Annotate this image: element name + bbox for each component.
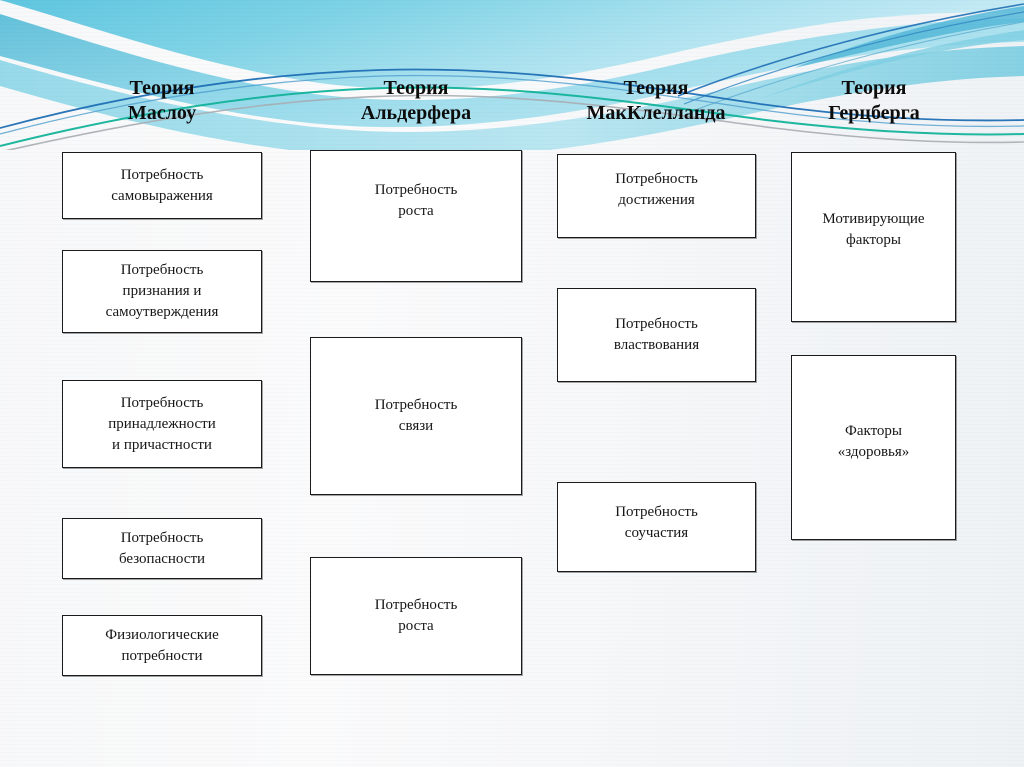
- box-label: Потребность соучастия: [562, 502, 751, 544]
- box-maslow-physiological[interactable]: Физиологические потребности: [62, 615, 262, 676]
- box-label: Потребность принадлежности и причастност…: [67, 393, 257, 456]
- box-label: Потребность связи: [315, 395, 517, 437]
- decorative-wave-banner: [0, 0, 1024, 150]
- box-maslow-self-actualization[interactable]: Потребность самовыражения: [62, 152, 262, 219]
- box-herzberg-motivators[interactable]: Мотивирующие факторы: [791, 152, 956, 322]
- box-maslow-esteem[interactable]: Потребность признания и самоутверждения: [62, 250, 262, 333]
- box-label: Потребность достижения: [562, 169, 751, 211]
- column-header-alderfer: Теория Альдерфера: [310, 76, 522, 126]
- box-alderfer-growth-bottom[interactable]: Потребность роста: [310, 557, 522, 675]
- box-maslow-belonging[interactable]: Потребность принадлежности и причастност…: [62, 380, 262, 468]
- box-label: Потребность самовыражения: [67, 165, 257, 207]
- box-maslow-safety[interactable]: Потребность безопасности: [62, 518, 262, 579]
- box-label: Потребность признания и самоутверждения: [67, 260, 257, 323]
- wave-graphic: [0, 0, 1024, 150]
- box-label: Потребность роста: [315, 595, 517, 637]
- box-mcclelland-achievement[interactable]: Потребность достижения: [557, 154, 756, 238]
- column-header-mcclelland: Теория МакКлелланда: [545, 76, 767, 126]
- box-alderfer-relatedness[interactable]: Потребность связи: [310, 337, 522, 495]
- column-header-herzberg: Теория Герцберга: [791, 76, 957, 126]
- box-mcclelland-power[interactable]: Потребность властвования: [557, 288, 756, 382]
- box-mcclelland-affiliation[interactable]: Потребность соучастия: [557, 482, 756, 572]
- box-label: Потребность роста: [315, 180, 517, 222]
- box-label: Факторы «здоровья»: [796, 421, 951, 463]
- box-label: Потребность властвования: [562, 314, 751, 356]
- box-label: Мотивирующие факторы: [796, 209, 951, 251]
- box-herzberg-hygiene[interactable]: Факторы «здоровья»: [791, 355, 956, 540]
- box-label: Потребность безопасности: [67, 528, 257, 570]
- box-alderfer-growth-top[interactable]: Потребность роста: [310, 150, 522, 282]
- column-header-maslow: Теория Маслоу: [62, 76, 262, 126]
- box-label: Физиологические потребности: [67, 625, 257, 667]
- slide-canvas: Теория Маслоу Теория Альдерфера Теория М…: [0, 0, 1024, 767]
